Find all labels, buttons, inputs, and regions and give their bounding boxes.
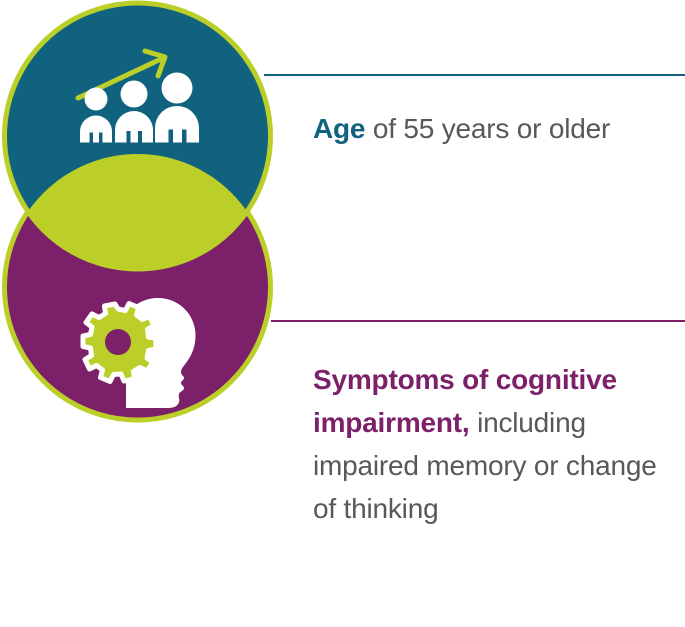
symptoms-connector-rule: [271, 320, 685, 322]
venn-diagram-graphic: [0, 0, 290, 430]
symptoms-criterion-text: Symptoms of cognitive impairment, includ…: [313, 358, 685, 530]
age-criterion-rest: of 55 years or older: [365, 113, 610, 144]
age-connector-rule: [264, 74, 685, 76]
age-criterion-text: Age of 55 years or older: [313, 107, 685, 150]
age-criterion-lead: Age: [313, 113, 365, 144]
venn-diagram: [0, 0, 290, 430]
criteria-infographic: Age of 55 years or older Symptoms of cog…: [0, 0, 685, 627]
